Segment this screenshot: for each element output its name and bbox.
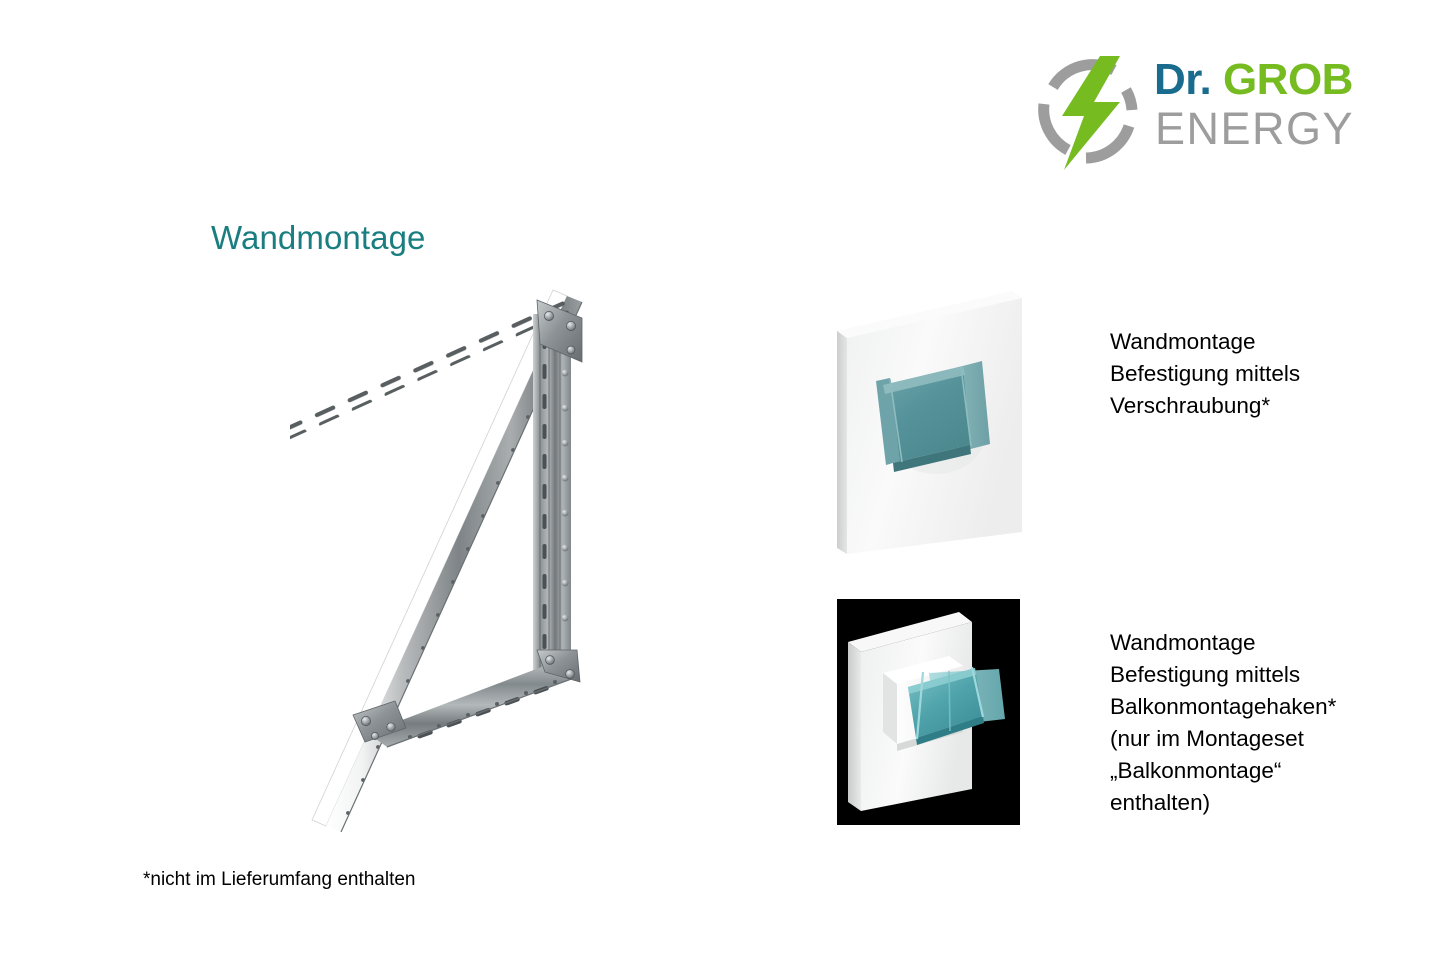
caption-screw-mount: Wandmontage Befestigung mittels Verschra… — [1110, 326, 1410, 422]
page-title: Wandmontage — [211, 219, 426, 257]
caption-hook-mount: Wandmontage Befestigung mittels Balkonmo… — [1110, 627, 1410, 819]
bracket-vertical-rail — [533, 314, 571, 680]
logo-text-energy: ENERGY — [1155, 106, 1354, 151]
logo-text-dr: Dr. — [1154, 55, 1211, 104]
footnote: *nicht im Lieferumfang enthalten — [143, 869, 416, 891]
lightning-bolt-in-broken-circle-icon — [1028, 54, 1152, 172]
logo-wordmark: Dr. GROB ENERGY — [1154, 52, 1366, 172]
brand-logo: Dr. GROB ENERGY — [1028, 52, 1368, 172]
triangular-wall-mount-bracket-image — [290, 278, 600, 838]
logo-text-grob: GROB — [1223, 55, 1353, 104]
logo-line-1: Dr. GROB — [1154, 58, 1353, 102]
wall-mount-balcony-hook-photo — [837, 599, 1020, 825]
wall-mount-screw-photo — [826, 282, 1026, 564]
